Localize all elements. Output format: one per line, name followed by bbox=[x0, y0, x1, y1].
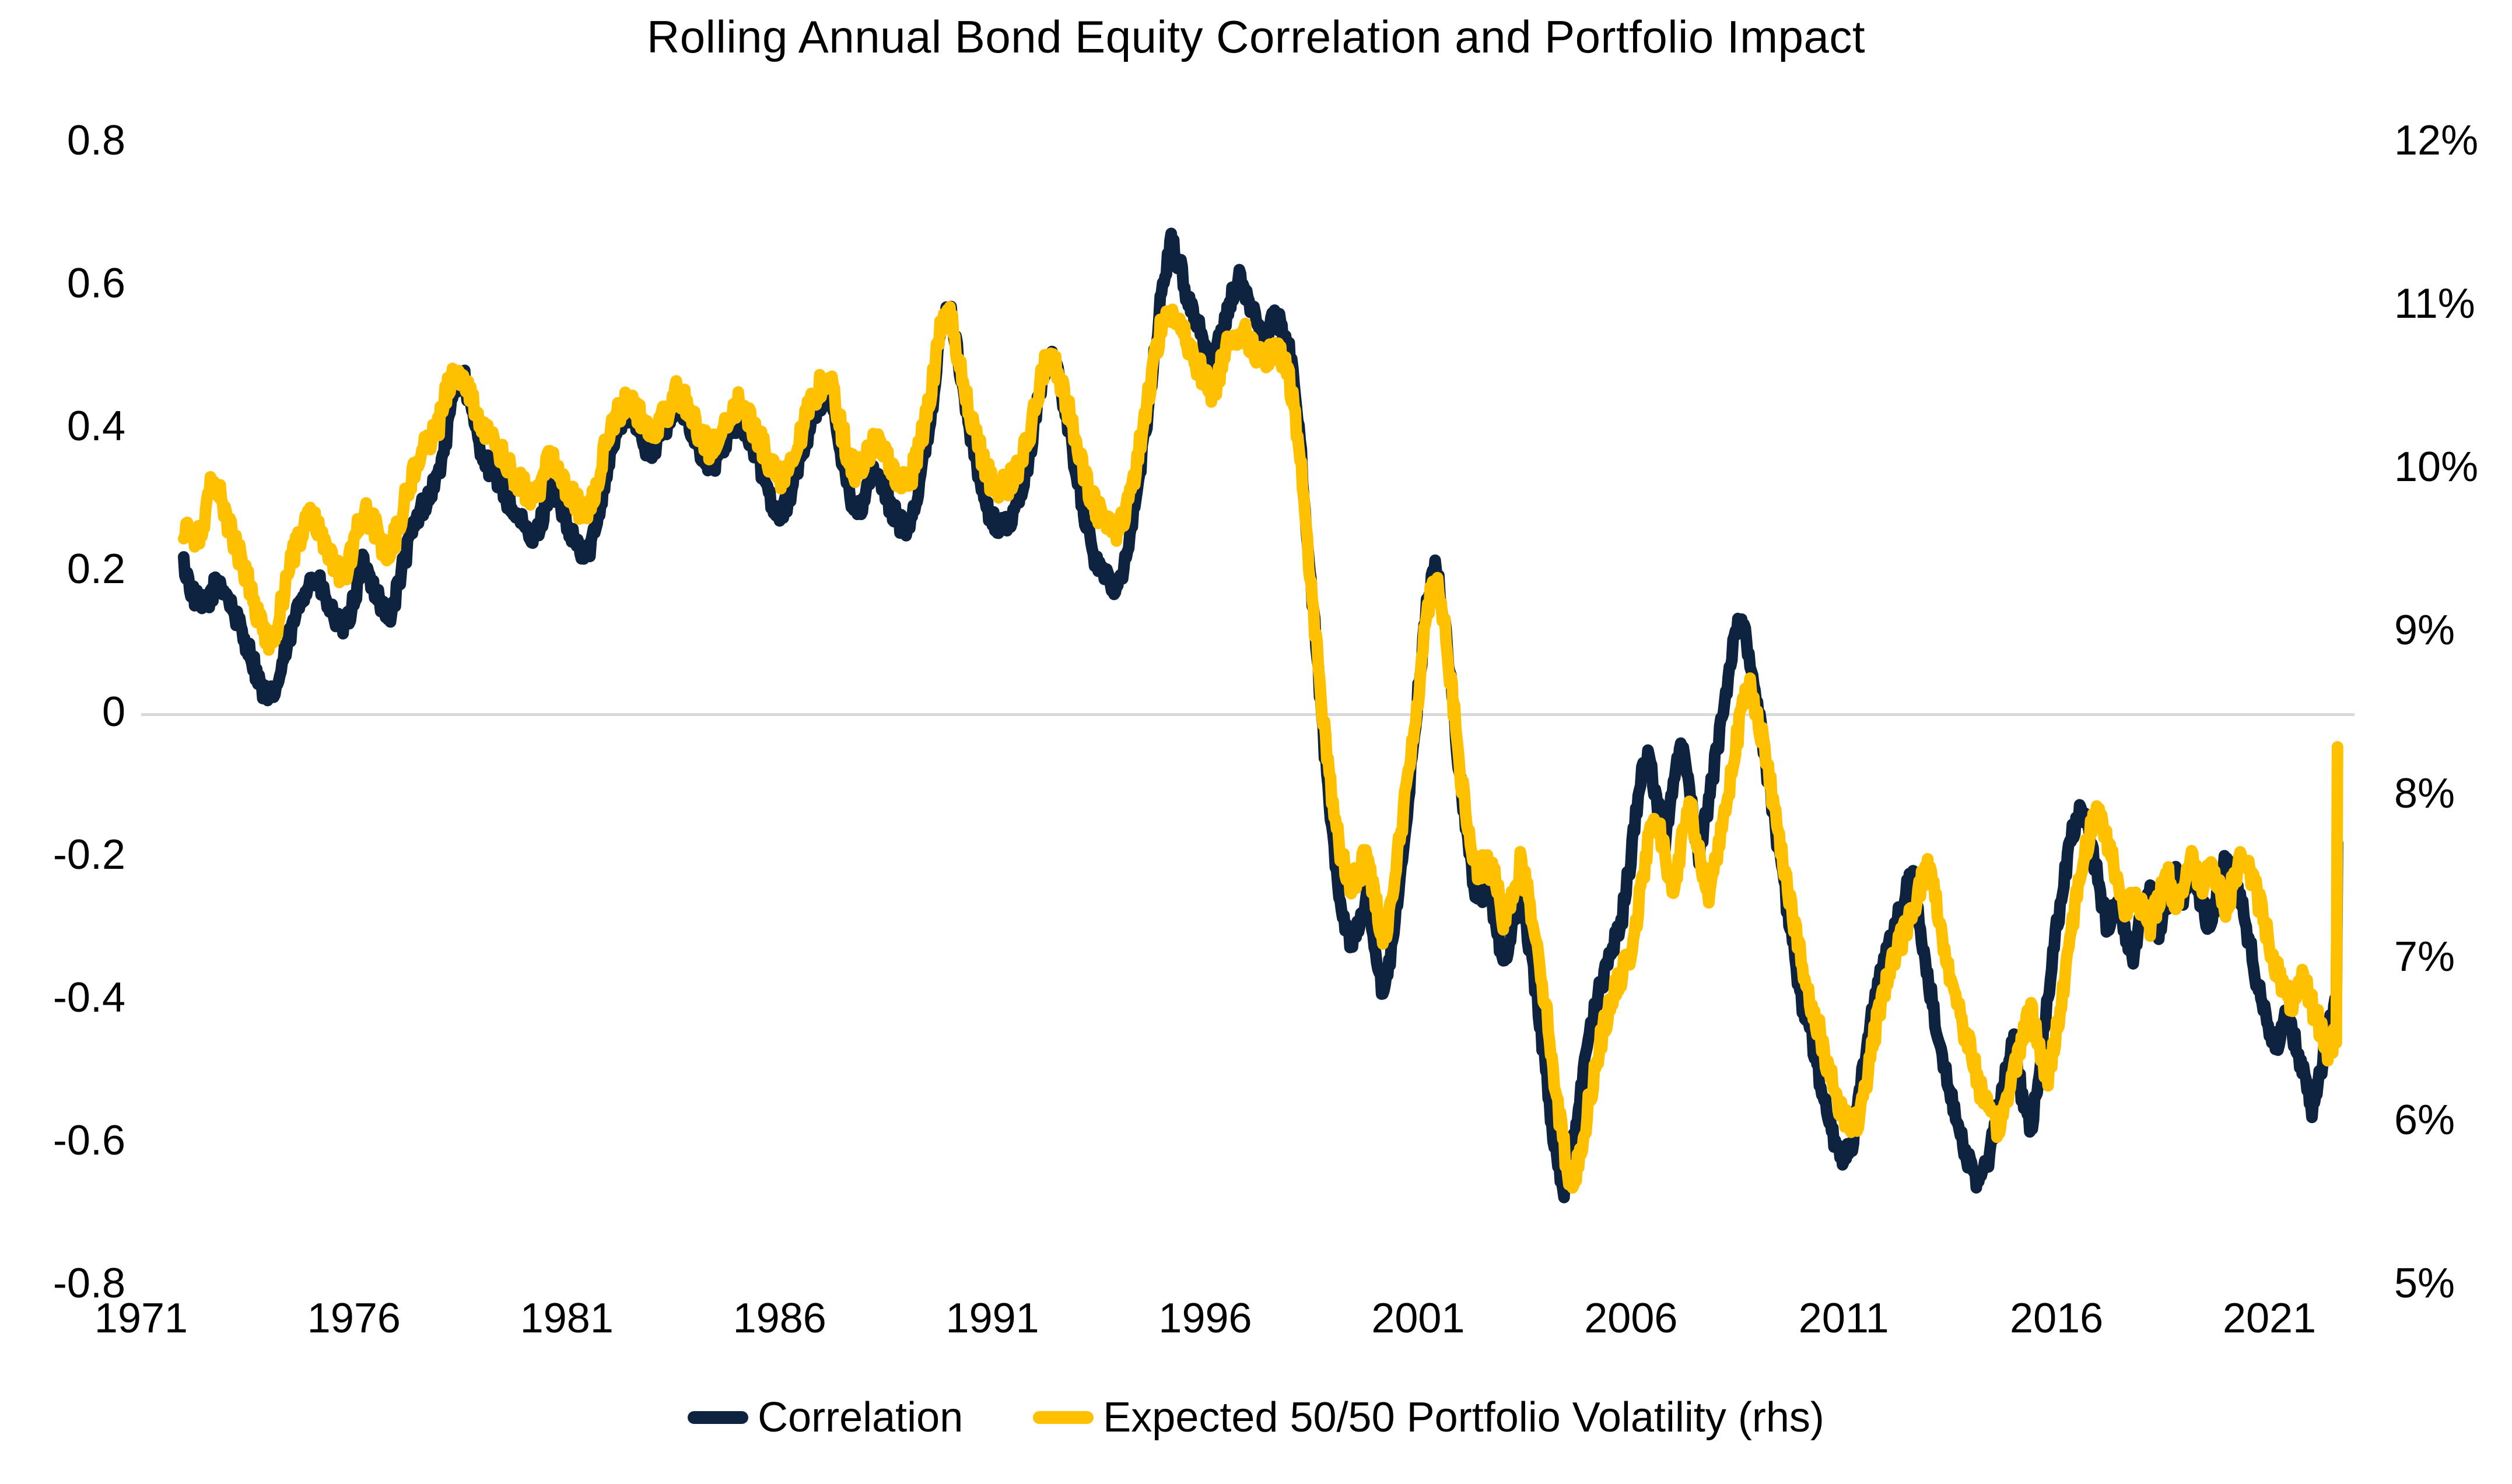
y-left-tick-label: 0.8 bbox=[67, 120, 125, 162]
x-tick-label: 1996 bbox=[1158, 1297, 1252, 1339]
y-right-tick-label: 10% bbox=[2394, 446, 2478, 488]
y-left-tick-label: 0 bbox=[102, 691, 125, 733]
chart-title: Rolling Annual Bond Equity Correlation a… bbox=[0, 10, 2512, 64]
y-left-tick-label: -0.6 bbox=[53, 1120, 125, 1162]
y-left-tick-label: 0.2 bbox=[67, 548, 125, 590]
y-right-tick-label: 5% bbox=[2394, 1262, 2455, 1304]
x-tick-label: 2001 bbox=[1371, 1297, 1465, 1339]
x-tick-label: 2016 bbox=[2010, 1297, 2103, 1339]
series-plot bbox=[141, 143, 2355, 1286]
y-right-tick-label: 11% bbox=[2394, 283, 2475, 325]
y-right-tick-label: 7% bbox=[2394, 936, 2455, 978]
y-right-tick-label: 9% bbox=[2394, 609, 2455, 651]
y-right-tick-label: 12% bbox=[2394, 120, 2478, 162]
series-line-volatility bbox=[184, 307, 2338, 1188]
legend-swatch-icon bbox=[1033, 1411, 1094, 1424]
legend-label: Expected 50/50 Portfolio Volatility (rhs… bbox=[1103, 1397, 1824, 1439]
y-left-tick-label: 0.4 bbox=[67, 405, 125, 447]
y-right-tick-label: 6% bbox=[2394, 1099, 2455, 1141]
x-tick-label: 2011 bbox=[1799, 1297, 1889, 1339]
y-left-tick-label: -0.2 bbox=[53, 834, 125, 876]
legend-item-volatility[interactable]: Expected 50/50 Portfolio Volatility (rhs… bbox=[1033, 1397, 1824, 1439]
x-tick-label: 1971 bbox=[94, 1297, 188, 1339]
chart-container: Rolling Annual Bond Equity Correlation a… bbox=[0, 0, 2512, 1484]
y-right-tick-label: 8% bbox=[2394, 773, 2455, 815]
x-tick-label: 1991 bbox=[946, 1297, 1039, 1339]
x-tick-label: 2021 bbox=[2223, 1297, 2316, 1339]
plot-area bbox=[141, 143, 2355, 1286]
legend-item-correlation[interactable]: Correlation bbox=[688, 1397, 963, 1439]
x-tick-label: 1976 bbox=[307, 1297, 401, 1339]
x-tick-label: 1981 bbox=[520, 1297, 614, 1339]
y-left-tick-label: 0.6 bbox=[67, 262, 125, 304]
legend-swatch-icon bbox=[688, 1411, 748, 1424]
chart-legend: CorrelationExpected 50/50 Portfolio Vola… bbox=[0, 1397, 2512, 1439]
legend-label: Correlation bbox=[758, 1397, 963, 1439]
y-left-tick-label: -0.4 bbox=[53, 977, 125, 1019]
x-tick-label: 2006 bbox=[1584, 1297, 1677, 1339]
x-tick-label: 1986 bbox=[733, 1297, 826, 1339]
